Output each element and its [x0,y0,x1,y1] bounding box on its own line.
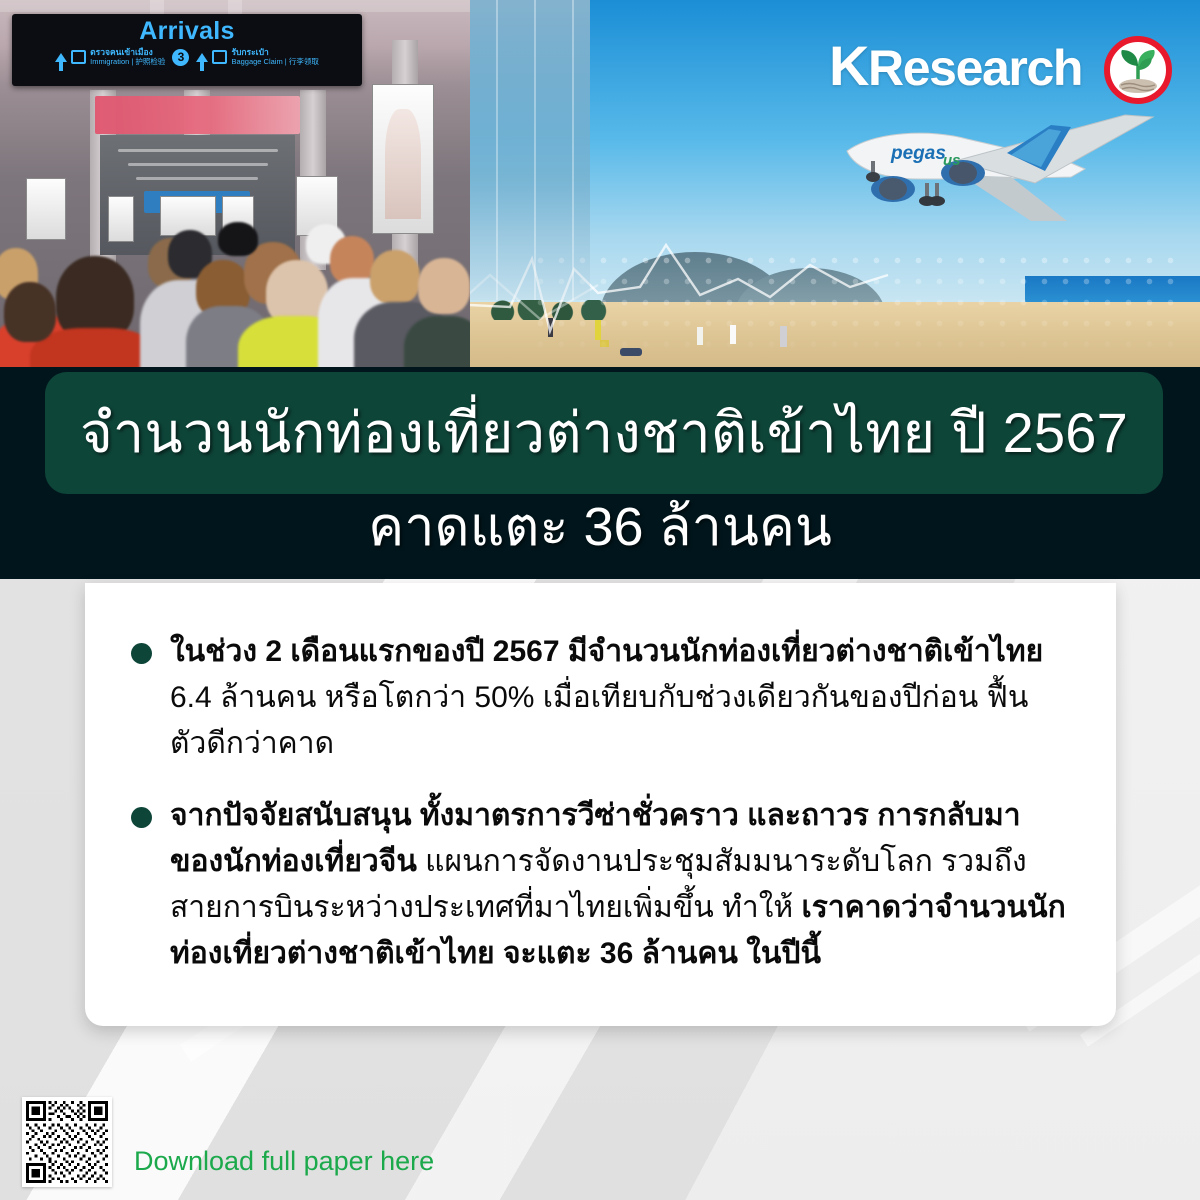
baggage-icon [212,50,227,64]
traveller-crowd [0,220,470,385]
svg-text:pegas: pegas [890,143,946,164]
arrivals-sign: Arrivals ตรวจคนเข้าเมือง Immigration | 护… [12,14,362,86]
kresearch-logo: KResearch [829,33,1082,98]
infographic-page: Arrivals ตรวจคนเข้าเมือง Immigration | 护… [0,0,1200,1200]
sprout-seedling-icon [1104,36,1172,104]
arrow-up-icon [196,53,208,62]
arrivals-sign-title: Arrivals [18,17,356,45]
immigration-label-th: ตรวจคนเข้าเมือง [90,48,165,57]
bullet-1-text: ในช่วง 2 เดือนแรกของปี 2567 มีจำนวนนักท่… [170,629,1070,767]
airport-terminal: Arrivals ตรวจคนเข้าเมือง Immigration | 护… [0,0,470,385]
airplane: pegas us [835,105,1175,255]
download-link[interactable]: Download full paper here [134,1146,434,1176]
content-card: ในช่วง 2 เดือนแรกของปี 2567 มีจำนวนนักท่… [85,583,1116,1026]
baggage-label-th: รับกระเป๋า [231,48,318,57]
page-title: จำนวนนักท่องเที่ยวต่างชาติเข้าไทย ปี 256… [80,405,1128,461]
svg-text:us: us [943,152,961,169]
baggage-label-en: Baggage Claim | 行李领取 [231,57,318,66]
hero-photo: Arrivals ตรวจคนเข้าเมือง Immigration | 护… [0,0,1200,385]
bullet-dot-icon [131,643,152,664]
passport-icon [71,50,86,64]
baggage-direction: รับกระเป๋า Baggage Claim | 行李领取 [196,48,318,66]
immigration-label-en: Immigration | 护照检验 [90,57,165,66]
logo-word-research: Research [868,40,1082,96]
title-banner: จำนวนนักท่องเที่ยวต่างชาติเข้าไทย ปี 256… [45,372,1163,494]
list-item: จากปัจจัยสนับสนุน ทั้งมาตรการวีซ่าชั่วคร… [131,793,1070,977]
bullet-2-text: จากปัจจัยสนับสนุน ทั้งมาตรการวีซ่าชั่วคร… [170,793,1070,977]
qr-code[interactable] [22,1097,112,1187]
ad-panel-portrait [372,84,434,234]
qr-code-image [26,1101,108,1183]
logo-letter-k: K [829,34,868,97]
page-subtitle: คาดแตะ 36 ล้านคน [0,500,1200,554]
bullet-dot-icon [131,807,152,828]
immigration-direction: ตรวจคนเข้าเมือง Immigration | 护照检验 [55,48,165,66]
arrow-up-icon [55,53,67,62]
list-item: ในช่วง 2 เดือนแรกของปี 2567 มีจำนวนนักท่… [131,629,1070,767]
advertisement-banner [95,96,300,134]
gate-number-badge: 3 [172,49,189,66]
